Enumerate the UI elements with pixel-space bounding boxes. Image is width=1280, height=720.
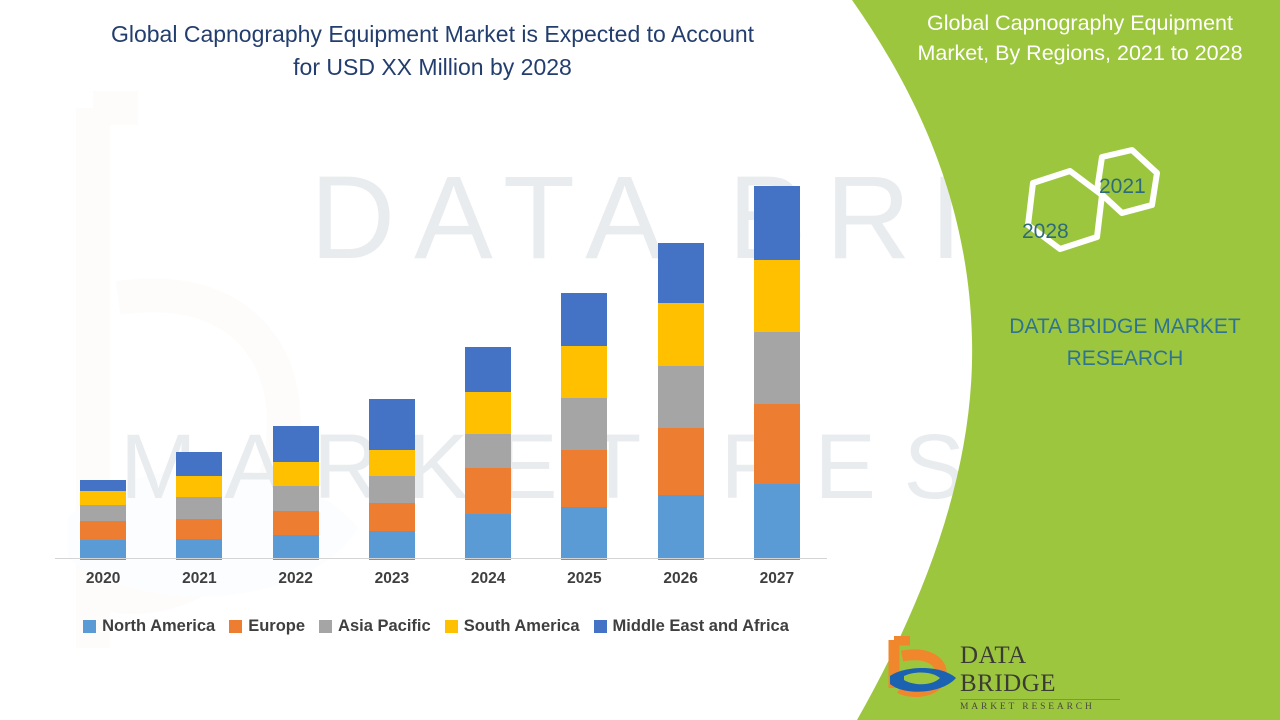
bar-column: [465, 347, 511, 560]
panel-heading-line-2: Market, By Regions, 2021 to 2028: [895, 38, 1265, 68]
legend-label: South America: [464, 617, 580, 636]
x-axis-tick-2024: 2024: [453, 570, 523, 588]
hexagon-badges: [985, 145, 1185, 290]
legend-label: Europe: [248, 617, 305, 636]
bar-segment: [273, 486, 319, 511]
bar-column: [561, 293, 607, 560]
bar-segment: [176, 519, 222, 539]
bar-segment: [369, 399, 415, 450]
bar-segment: [754, 404, 800, 484]
bar-segment: [561, 293, 607, 346]
bar-segment: [369, 503, 415, 531]
bar-segment: [754, 332, 800, 404]
bar-segment: [369, 450, 415, 476]
x-axis-tick-2023: 2023: [357, 570, 427, 588]
stacked-bar-plot: [55, 160, 825, 560]
panel-heading-line-1: Global Capnography Equipment: [895, 8, 1265, 38]
hexagon-label-2021: 2021: [1099, 175, 1146, 199]
bar-segment: [754, 484, 800, 560]
hexagon-outline-icons: [985, 145, 1185, 290]
bar-segment: [658, 303, 704, 366]
legend-label: North America: [102, 617, 215, 636]
bar-segment: [658, 428, 704, 495]
x-axis-tick-2025: 2025: [549, 570, 619, 588]
bar-segment: [754, 186, 800, 260]
x-axis-tick-2020: 2020: [68, 570, 138, 588]
brand-name: DATA BRIDGE MARKET RESEARCH: [960, 311, 1280, 375]
legend-item[interactable]: Asia Pacific: [319, 617, 431, 636]
legend-swatch-icon: [229, 620, 242, 633]
legend-swatch-icon: [445, 620, 458, 633]
bar-segment: [561, 346, 607, 398]
x-axis-tick-2026: 2026: [646, 570, 716, 588]
chart-title-line-1: Global Capnography Equipment Market is E…: [60, 18, 805, 51]
x-axis-tick-2027: 2027: [742, 570, 812, 588]
bar-segment: [80, 491, 126, 505]
logo-divider: [960, 699, 1120, 700]
brand-name-line-2: RESEARCH: [960, 343, 1280, 375]
bar-segment: [80, 521, 126, 540]
bar-segment: [80, 480, 126, 491]
legend-swatch-icon: [319, 620, 332, 633]
bar-segment: [273, 462, 319, 486]
legend-label: Middle East and Africa: [613, 617, 789, 636]
logo-subtitle: MARKET RESEARCH: [960, 702, 1120, 712]
x-axis-tick-labels: 20202021202220232024202520262027: [55, 570, 827, 596]
bar-segment: [465, 514, 511, 560]
bar-segment: [658, 366, 704, 428]
bar-segment: [465, 468, 511, 514]
company-logo: DATA BRIDGE MARKET RESEARCH: [888, 636, 1118, 702]
data-bridge-logo-mark-icon: [888, 636, 958, 702]
legend-label: Asia Pacific: [338, 617, 431, 636]
bar-segment: [369, 531, 415, 560]
bar-segment: [176, 539, 222, 560]
bar-column: [754, 186, 800, 560]
bar-segment: [465, 347, 511, 392]
chart-infographic: DATA BRIDGE MARKET RESEARCH Global Capno…: [0, 0, 1280, 720]
bar-segment: [176, 476, 222, 497]
bar-segment: [369, 476, 415, 503]
bar-segment: [80, 505, 126, 521]
bar-segment: [273, 535, 319, 560]
bar-segment: [658, 243, 704, 303]
chart-title: Global Capnography Equipment Market is E…: [60, 18, 805, 84]
bar-segment: [176, 452, 222, 476]
legend-swatch-icon: [594, 620, 607, 633]
bar-column: [273, 426, 319, 560]
brand-name-line-1: DATA BRIDGE MARKET: [960, 311, 1280, 343]
bar-segment: [561, 450, 607, 507]
bar-column: [176, 452, 222, 560]
bar-segment: [176, 497, 222, 519]
hexagon-label-2028: 2028: [1022, 220, 1069, 244]
chart-legend: North AmericaEuropeAsia PacificSouth Ame…: [46, 617, 826, 636]
bar-segment: [754, 260, 800, 332]
x-axis-baseline: [55, 558, 827, 559]
legend-item[interactable]: South America: [445, 617, 580, 636]
panel-heading: Global Capnography Equipment Market, By …: [895, 8, 1265, 68]
bar-segment: [561, 398, 607, 450]
bar-column: [658, 243, 704, 560]
bar-column: [80, 480, 126, 560]
x-axis-tick-2022: 2022: [261, 570, 331, 588]
legend-item[interactable]: North America: [83, 617, 215, 636]
chart-title-line-2: for USD XX Million by 2028: [60, 51, 805, 84]
x-axis-tick-2021: 2021: [164, 570, 234, 588]
bar-segment: [465, 392, 511, 434]
legend-swatch-icon: [83, 620, 96, 633]
bar-segment: [80, 540, 126, 560]
logo-text: DATA BRIDGE MARKET RESEARCH: [960, 642, 1120, 712]
bar-segment: [465, 434, 511, 468]
bar-segment: [658, 495, 704, 560]
logo-title: DATA BRIDGE: [960, 642, 1120, 698]
bar-segment: [561, 507, 607, 560]
bar-segment: [273, 426, 319, 462]
legend-item[interactable]: Europe: [229, 617, 305, 636]
bar-column: [369, 399, 415, 560]
bar-segment: [273, 511, 319, 535]
legend-item[interactable]: Middle East and Africa: [594, 617, 789, 636]
